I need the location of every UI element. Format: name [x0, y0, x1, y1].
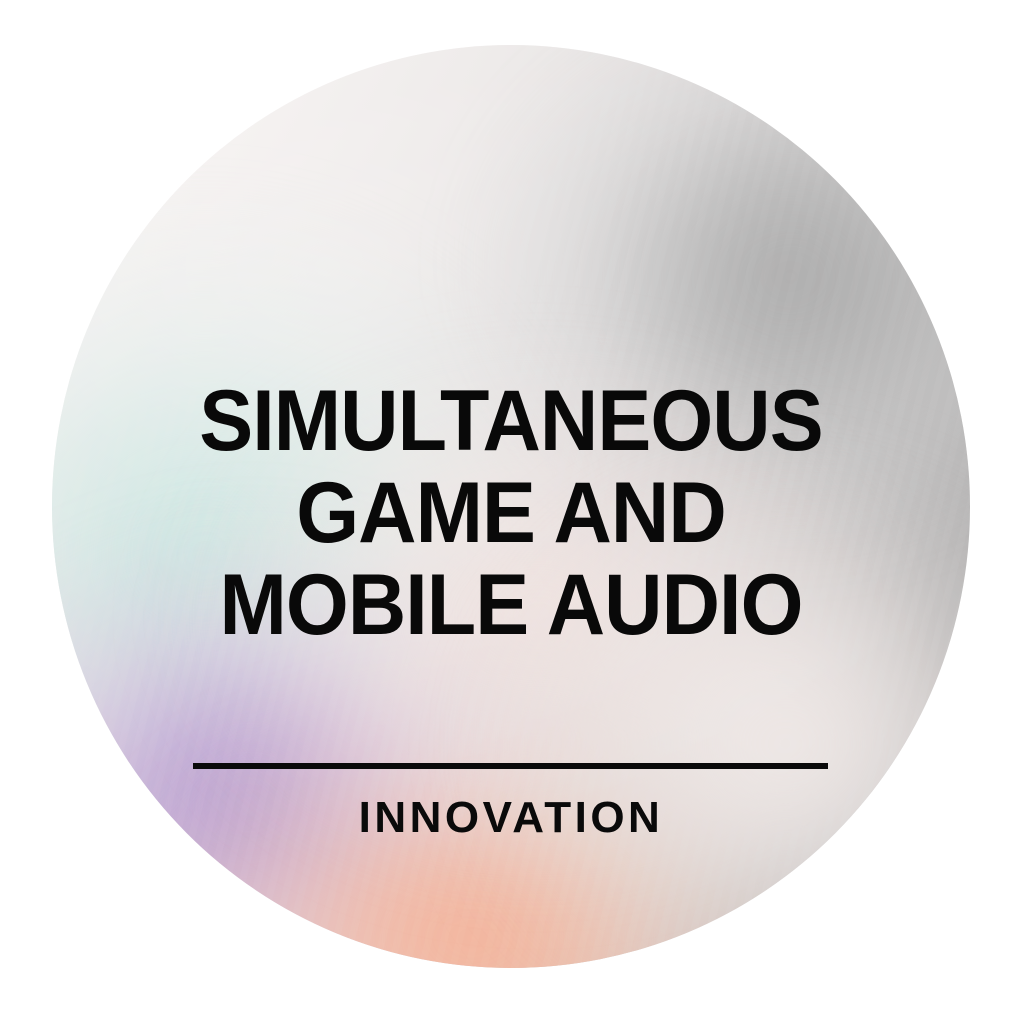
- badge-kicker: INNOVATION: [52, 793, 970, 843]
- headline-line-1: SIMULTANEOUS: [80, 375, 943, 467]
- badge-content: SIMULTANEOUS GAME AND MOBILE AUDIO INNOV…: [52, 45, 970, 968]
- headline-line-2: GAME AND: [80, 467, 943, 559]
- badge-headline: SIMULTANEOUS GAME AND MOBILE AUDIO: [80, 375, 943, 651]
- headline-line-3: MOBILE AUDIO: [80, 559, 943, 651]
- divider-rule: [193, 763, 828, 769]
- badge-canvas: SIMULTANEOUS GAME AND MOBILE AUDIO INNOV…: [0, 0, 1024, 1024]
- holographic-badge: SIMULTANEOUS GAME AND MOBILE AUDIO INNOV…: [52, 45, 970, 968]
